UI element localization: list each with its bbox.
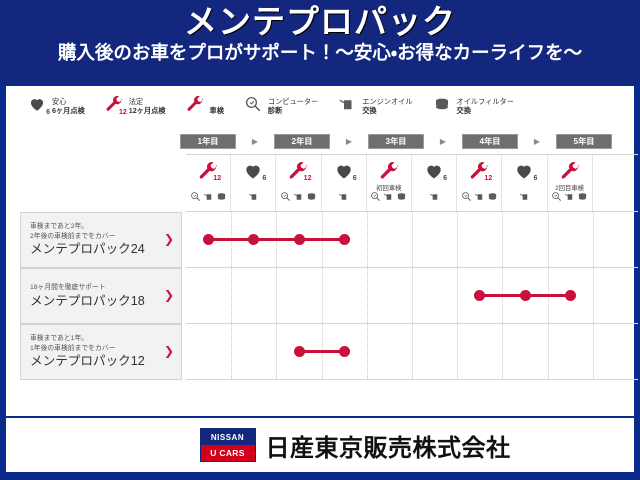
package-card-3[interactable]: 車検まであと1年。1年後の車検前までをカバーメンテプロパック12❯	[20, 324, 182, 380]
legend-item-3: コンピューター診断	[240, 92, 318, 116]
grid-column-line	[231, 324, 233, 379]
oil-can-icon	[564, 189, 575, 207]
heart-icon: 6	[331, 160, 357, 182]
grid-column-line	[412, 324, 414, 379]
service-badge: 12	[304, 175, 312, 182]
magnifier-icon	[370, 189, 381, 207]
grid-column-line	[457, 212, 459, 267]
magnifier-icon	[551, 189, 562, 207]
grid-column-line	[593, 324, 595, 379]
logo-ucars-text: U CARS	[201, 445, 255, 461]
magnifier-icon	[461, 189, 472, 207]
oil-can-icon	[519, 189, 530, 207]
oil-filter-icon	[487, 189, 498, 207]
service-sub-icons	[276, 189, 320, 207]
grid-column-line	[412, 268, 414, 323]
coverage-dot	[520, 290, 531, 301]
grid-column-line	[412, 212, 414, 267]
service-sub-icons	[412, 189, 456, 207]
coverage-dot	[294, 346, 305, 357]
legend-item-2: 車検	[182, 92, 224, 116]
legend-item-label: 車検	[210, 99, 224, 116]
package-label-column: 車検まであと2年。2年後の車検前までをカバーメンテプロパック24❯18ヶ月間を徹…	[20, 212, 182, 380]
wrench-icon: 12	[285, 160, 311, 182]
wrench-icon: 12	[195, 160, 221, 182]
service-badge: 6	[353, 175, 357, 182]
coverage-dot	[203, 234, 214, 245]
year-arrow-icon: ▶	[236, 137, 274, 146]
service-sub-icons	[231, 189, 275, 207]
oil-can-icon	[338, 189, 349, 207]
package-bar-rows	[186, 212, 638, 430]
legend-item-0: 6安心6ヶ月点検	[24, 92, 85, 116]
logo-nissan-text: NISSAN	[201, 429, 255, 445]
page-title: メンテプロパック	[184, 5, 456, 40]
coverage-bar	[299, 350, 344, 353]
service-icon-row: 126126初回車検61262回目車検	[186, 154, 638, 212]
coverage-dot	[339, 234, 350, 245]
service-badge: 12	[213, 175, 221, 182]
year-cell-5: 5年目	[556, 134, 612, 149]
grid-column-line	[548, 212, 550, 267]
legend-item-5: オイルフィルター交換	[429, 92, 514, 116]
oil-filter-icon	[306, 189, 317, 207]
oil-can-icon	[248, 189, 259, 207]
chevron-right-icon[interactable]: ❯	[164, 345, 174, 357]
service-cell-7: 12	[457, 155, 502, 211]
legend-item-4: エンジンオイル交換	[334, 92, 412, 116]
heart-icon: 6	[421, 160, 447, 182]
oil-can-icon	[429, 189, 440, 207]
service-badge: 6	[443, 175, 447, 182]
service-cell-2: 6	[231, 155, 276, 211]
year-cell-1: 1年目	[180, 134, 236, 149]
service-badge: 12	[484, 175, 492, 182]
grid-column-line	[367, 212, 369, 267]
oil-can-icon	[334, 92, 360, 116]
package-desc-line1: 車検まであと1年。	[30, 334, 161, 344]
service-cell-4: 6	[322, 155, 367, 211]
service-sub-icons	[457, 189, 501, 207]
service-cell-9: 2回目車検	[548, 155, 593, 211]
package-desc-line1: 18ヶ月間を徹底サポート	[30, 283, 161, 293]
year-arrow-icon: ▶	[518, 137, 556, 146]
package-desc-line1: 車検まであと2年。	[30, 222, 161, 232]
grid-column-line	[276, 324, 278, 379]
page-subtitle: 購入後のお車をプロがサポート！～安心・お得なカーライフを～	[58, 43, 582, 63]
wrench-icon: 12	[466, 160, 492, 182]
package-card-2[interactable]: 18ヶ月間を徹底サポートメンテプロパック18❯	[20, 268, 182, 324]
legend-item-label: エンジンオイル交換	[362, 97, 412, 116]
footer: NISSAN U CARS 日産東京販売株式会社	[6, 418, 634, 472]
package-name: メンテプロパック24	[30, 242, 161, 258]
package-bar-row-1	[186, 212, 638, 268]
heart-icon: 6	[24, 92, 50, 116]
legend-item-label: 安心6ヶ月点検	[52, 97, 85, 116]
service-cell-3: 12	[276, 155, 321, 211]
legend-item-1: 12法定12ヶ月点検	[101, 92, 166, 116]
grid-column-line	[502, 212, 504, 267]
service-sub-icons	[502, 189, 546, 207]
nissan-ucars-logo: NISSAN U CARS	[200, 428, 256, 462]
package-name: メンテプロパック12	[30, 354, 161, 370]
grid-column-line	[593, 268, 595, 323]
coverage-dot	[565, 290, 576, 301]
heart-icon: 6	[511, 160, 537, 182]
wrench-icon	[557, 160, 583, 182]
year-arrow-icon: ▶	[330, 137, 368, 146]
legend-badge: 12	[119, 109, 127, 116]
package-desc-line2: 2年後の車検前までをカバー	[30, 232, 161, 242]
oil-filter-icon	[216, 189, 227, 207]
service-cell-1: 12	[186, 155, 231, 211]
service-cell-10	[593, 155, 638, 211]
magnifier-icon	[190, 189, 201, 207]
company-name: 日産東京販売株式会社	[266, 428, 511, 463]
coverage-bar	[209, 238, 345, 241]
grid-column-line	[276, 268, 278, 323]
year-arrow-icon: ▶	[424, 137, 462, 146]
legend-badge: 6	[46, 109, 50, 116]
coverage-dot	[474, 290, 485, 301]
content-panel: 6安心6ヶ月点検12法定12ヶ月点検車検コンピューター診断エンジンオイル交換オイ…	[6, 86, 634, 416]
oil-can-icon	[293, 189, 304, 207]
package-card-1[interactable]: 車検まであと2年。2年後の車検前までをカバーメンテプロパック24❯	[20, 212, 182, 268]
oil-can-icon	[474, 189, 485, 207]
chevron-right-icon[interactable]: ❯	[164, 289, 174, 301]
timeline-grid: 126126初回車検61262回目車検	[186, 154, 638, 430]
grid-column-line	[502, 324, 504, 379]
service-badge: 6	[534, 175, 538, 182]
grid-column-line	[457, 268, 459, 323]
legend-item-label: コンピューター診断	[268, 97, 318, 116]
legend: 6安心6ヶ月点検12法定12ヶ月点検車検コンピューター診断エンジンオイル交換オイ…	[6, 86, 634, 122]
coverage-dot	[339, 346, 350, 357]
service-sub-icons	[548, 189, 592, 207]
maintenance-package-poster: メンテプロパック 購入後のお車をプロがサポート！～安心・お得なカーライフを～ 6…	[0, 0, 640, 480]
oil-filter-icon	[577, 189, 588, 207]
legend-item-label: 法定12ヶ月点検	[129, 97, 166, 116]
service-sub-icons	[186, 189, 230, 207]
empty-icon	[602, 160, 628, 182]
magnifier-icon	[280, 189, 291, 207]
grid-column-line	[322, 268, 324, 323]
grid-column-line	[593, 212, 595, 267]
oil-filter-icon	[396, 189, 407, 207]
header-banner: メンテプロパック 購入後のお車をプロがサポート！～安心・お得なカーライフを～	[0, 0, 640, 84]
year-cell-2: 2年目	[274, 134, 330, 149]
grid-column-line	[367, 268, 369, 323]
oil-can-icon	[203, 189, 214, 207]
grid-column-line	[367, 324, 369, 379]
oil-can-icon	[383, 189, 394, 207]
package-name: メンテプロパック18	[30, 294, 161, 310]
service-cell-8: 6	[502, 155, 547, 211]
service-badge: 6	[262, 175, 266, 182]
service-sub-icons	[367, 189, 411, 207]
oil-filter-icon	[429, 92, 455, 116]
legend-item-label: オイルフィルター交換	[457, 97, 514, 116]
heart-icon: 6	[240, 160, 266, 182]
wrench-icon	[376, 160, 402, 182]
package-bar-row-3	[186, 324, 638, 380]
grid-column-line	[548, 324, 550, 379]
wrench-icon	[182, 92, 208, 116]
year-cell-3: 3年目	[368, 134, 424, 149]
chevron-right-icon[interactable]: ❯	[164, 233, 174, 245]
year-header-row: 1年目▶2年目▶3年目▶4年目▶5年目	[180, 130, 632, 152]
magnifier-icon	[240, 92, 266, 116]
service-cell-6: 6	[412, 155, 457, 211]
wrench-icon: 12	[101, 92, 127, 116]
service-cell-5: 初回車検	[367, 155, 412, 211]
coverage-dot	[294, 234, 305, 245]
coverage-dot	[248, 234, 259, 245]
grid-column-line	[457, 324, 459, 379]
grid-column-line	[231, 268, 233, 323]
service-sub-icons	[322, 189, 366, 207]
package-desc-line2: 1年後の車検前までをカバー	[30, 344, 161, 354]
package-bar-row-2	[186, 268, 638, 324]
year-cell-4: 4年目	[462, 134, 518, 149]
